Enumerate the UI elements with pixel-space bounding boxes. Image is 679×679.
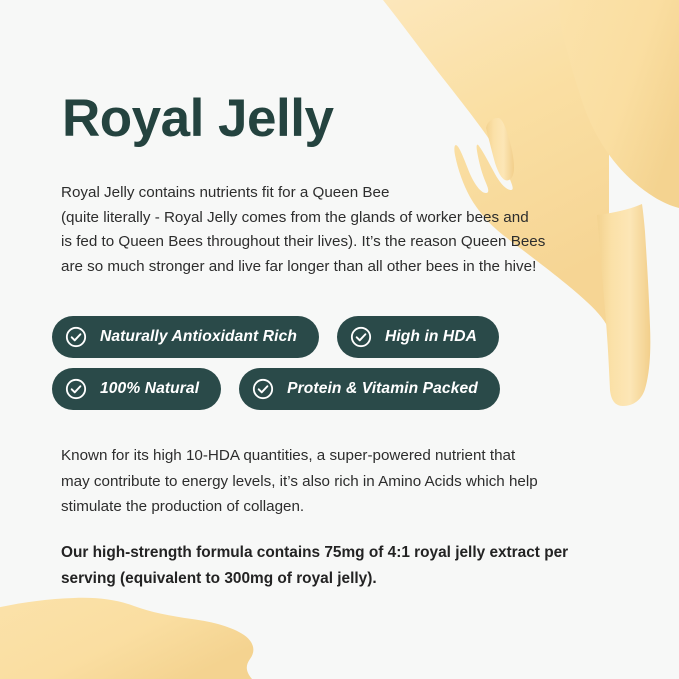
intro-line-2: (quite literally - Royal Jelly comes fro…	[61, 206, 606, 231]
dosage-line-2: serving (equivalent to 300mg of royal je…	[61, 566, 616, 592]
content-area: Royal Jelly Royal Jelly contains nutrien…	[0, 0, 679, 679]
benefits-line-3: stimulate the production of collagen.	[61, 494, 611, 520]
benefits-line-2: may contribute to energy levels, it’s al…	[61, 469, 611, 495]
badge-label: 100% Natural	[100, 381, 199, 397]
badge-label: Naturally Antioxidant Rich	[100, 329, 297, 345]
benefits-paragraph: Known for its high 10-HDA quantities, a …	[61, 443, 611, 520]
feature-badge-row-1: Naturally Antioxidant Rich High in HDA	[52, 316, 612, 358]
badge-100-percent-natural[interactable]: 100% Natural	[52, 368, 221, 410]
intro-line-3: is fed to Queen Bees throughout their li…	[61, 230, 606, 255]
product-info-panel: Royal Jelly Royal Jelly contains nutrien…	[0, 0, 679, 679]
check-circle-icon	[252, 378, 274, 400]
badge-protein-vitamin-packed[interactable]: Protein & Vitamin Packed	[239, 368, 500, 410]
intro-paragraph: Royal Jelly contains nutrients fit for a…	[61, 181, 606, 279]
badge-label: High in HDA	[385, 329, 477, 345]
dosage-paragraph: Our high-strength formula contains 75mg …	[61, 540, 616, 591]
badge-naturally-antioxidant-rich[interactable]: Naturally Antioxidant Rich	[52, 316, 319, 358]
intro-line-4: are so much stronger and live far longer…	[61, 255, 606, 280]
benefits-line-1: Known for its high 10-HDA quantities, a …	[61, 443, 611, 469]
badge-label: Protein & Vitamin Packed	[287, 381, 478, 397]
feature-badge-group: Naturally Antioxidant Rich High in HDA	[52, 316, 612, 420]
page-title: Royal Jelly	[62, 88, 333, 150]
check-circle-icon	[65, 326, 87, 348]
intro-line-1: Royal Jelly contains nutrients fit for a…	[61, 181, 606, 206]
check-circle-icon	[65, 378, 87, 400]
dosage-line-1: Our high-strength formula contains 75mg …	[61, 540, 616, 566]
badge-high-in-hda[interactable]: High in HDA	[337, 316, 499, 358]
check-circle-icon	[350, 326, 372, 348]
feature-badge-row-2: 100% Natural Protein & Vitamin Packed	[52, 368, 612, 410]
